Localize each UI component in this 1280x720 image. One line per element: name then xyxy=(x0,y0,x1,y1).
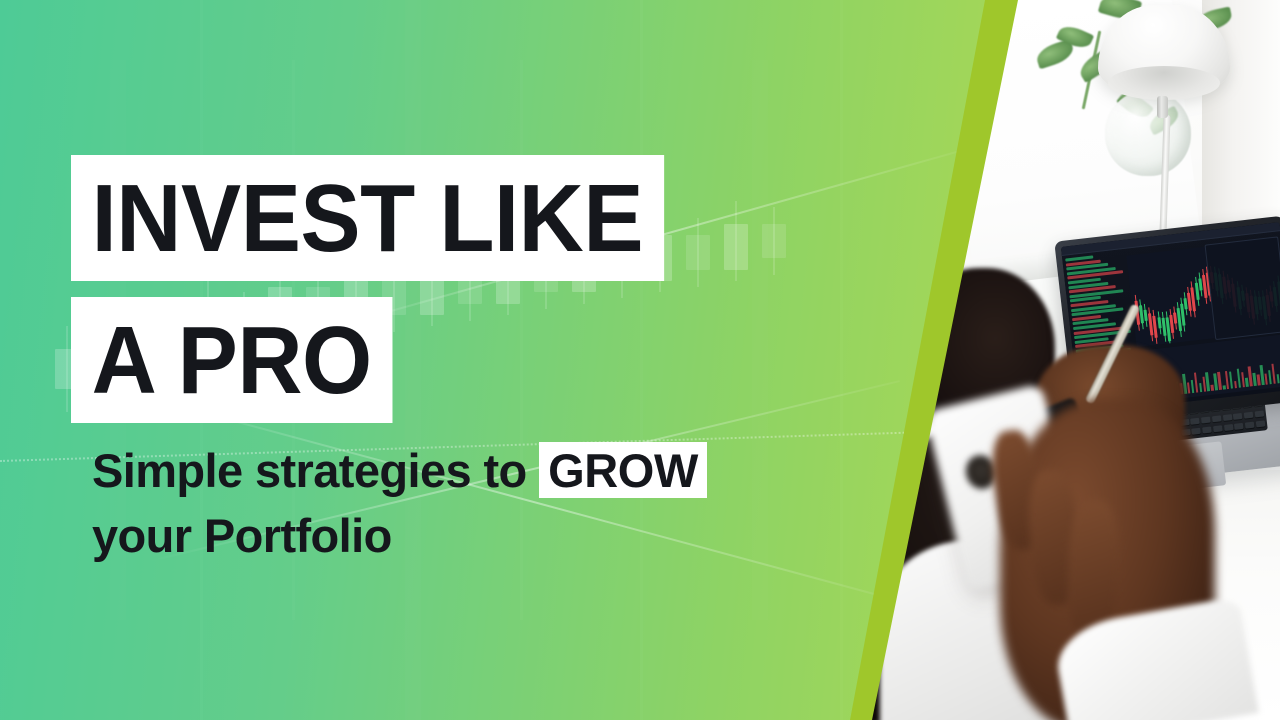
terminal-volume-bar xyxy=(1234,381,1237,388)
terminal-volume-bar xyxy=(1211,384,1214,391)
terminal-volume-bar xyxy=(1276,374,1280,383)
grid-vline xyxy=(840,0,843,720)
headline-block: INVEST LIKE A PRO xyxy=(71,155,831,439)
keyboard-key xyxy=(1245,422,1255,429)
glass-vase xyxy=(1105,90,1191,176)
subtitle-prefix: Simple strategies to xyxy=(92,444,539,497)
subtitle-highlight-grow: GROW xyxy=(539,442,707,498)
lamp-neck xyxy=(1157,96,1168,118)
keyboard-key xyxy=(1254,410,1264,417)
banner-stage: INVEST LIKE A PRO Simple strategies to G… xyxy=(0,0,1280,720)
keyboard-key xyxy=(1255,421,1265,428)
subtitle-line-2: your Portfolio xyxy=(92,506,852,566)
keyboard-key xyxy=(1223,424,1233,431)
terminal-volume-bar xyxy=(1217,372,1222,390)
keyboard-key xyxy=(1244,411,1254,418)
subtitle-block: Simple strategies to GROW your Portfolio xyxy=(92,441,852,566)
terminal-volume-bar xyxy=(1241,372,1245,387)
headline-line-1: INVEST LIKE xyxy=(71,155,664,281)
keyboard-key xyxy=(1202,427,1212,434)
keyboard-key xyxy=(1201,416,1211,423)
terminal-volume-bar xyxy=(1199,383,1203,392)
keyboard-key xyxy=(1234,423,1244,430)
lamp-shade-inner xyxy=(1108,66,1220,100)
headline-line-2: A PRO xyxy=(71,297,392,423)
keyboard-key xyxy=(1190,418,1200,425)
keyboard-key xyxy=(1213,425,1223,432)
terminal-candle-body xyxy=(1157,317,1161,329)
terminal-side-panel xyxy=(1205,236,1280,340)
terminal-volume-bar xyxy=(1205,372,1210,391)
keyboard-key xyxy=(1192,428,1202,435)
keyboard-key xyxy=(1222,414,1232,421)
terminal-volume-bar xyxy=(1223,385,1226,389)
keyboard-key xyxy=(1233,413,1243,420)
terminal-candle-body xyxy=(1144,309,1148,321)
headline-line-1-wrap: INVEST LIKE xyxy=(71,155,831,281)
terminal-volume-bar xyxy=(1229,372,1233,389)
headline-line-2-wrap: A PRO xyxy=(71,297,831,423)
keyboard-key xyxy=(1212,415,1222,422)
